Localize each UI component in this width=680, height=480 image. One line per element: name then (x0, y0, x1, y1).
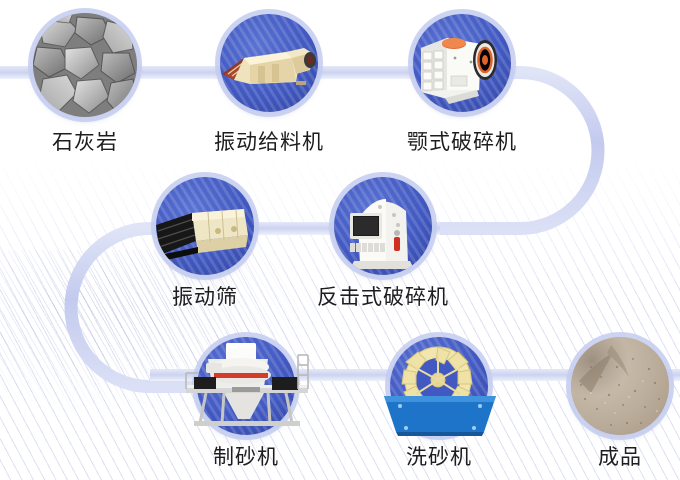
finished-product-disc (571, 337, 669, 435)
vibrating-screen-label: 振动筛 (141, 281, 269, 311)
vibrating-feeder-disc (220, 14, 318, 112)
sand-maker-label: 制砂机 (182, 441, 310, 471)
process-flow-diagram: 石灰岩 (0, 0, 680, 480)
vibrating-screen-disc (156, 177, 254, 275)
limestone-label: 石灰岩 (5, 126, 165, 156)
limestone-disc (33, 13, 137, 117)
impact-crusher-label: 反击式破碎机 (303, 281, 463, 311)
sand-maker-photo (172, 337, 322, 441)
impact-crusher-photo (334, 177, 432, 275)
vibrating-screen-photo (156, 177, 254, 275)
finished-sand-photo (571, 337, 669, 435)
jaw-crusher-disc (413, 14, 511, 112)
sand-washer-photo (378, 342, 502, 438)
crushed-stone-photo (33, 13, 137, 117)
sand-washer-label: 洗砂机 (375, 441, 503, 471)
jaw-crusher-label: 颚式破碎机 (382, 126, 542, 156)
impact-crusher-disc (334, 177, 432, 275)
finished-product-label: 成品 (556, 441, 680, 471)
vibrating-feeder-label: 振动给料机 (189, 126, 349, 156)
vibrating-feeder-photo (220, 14, 318, 112)
jaw-crusher-photo (413, 14, 511, 112)
